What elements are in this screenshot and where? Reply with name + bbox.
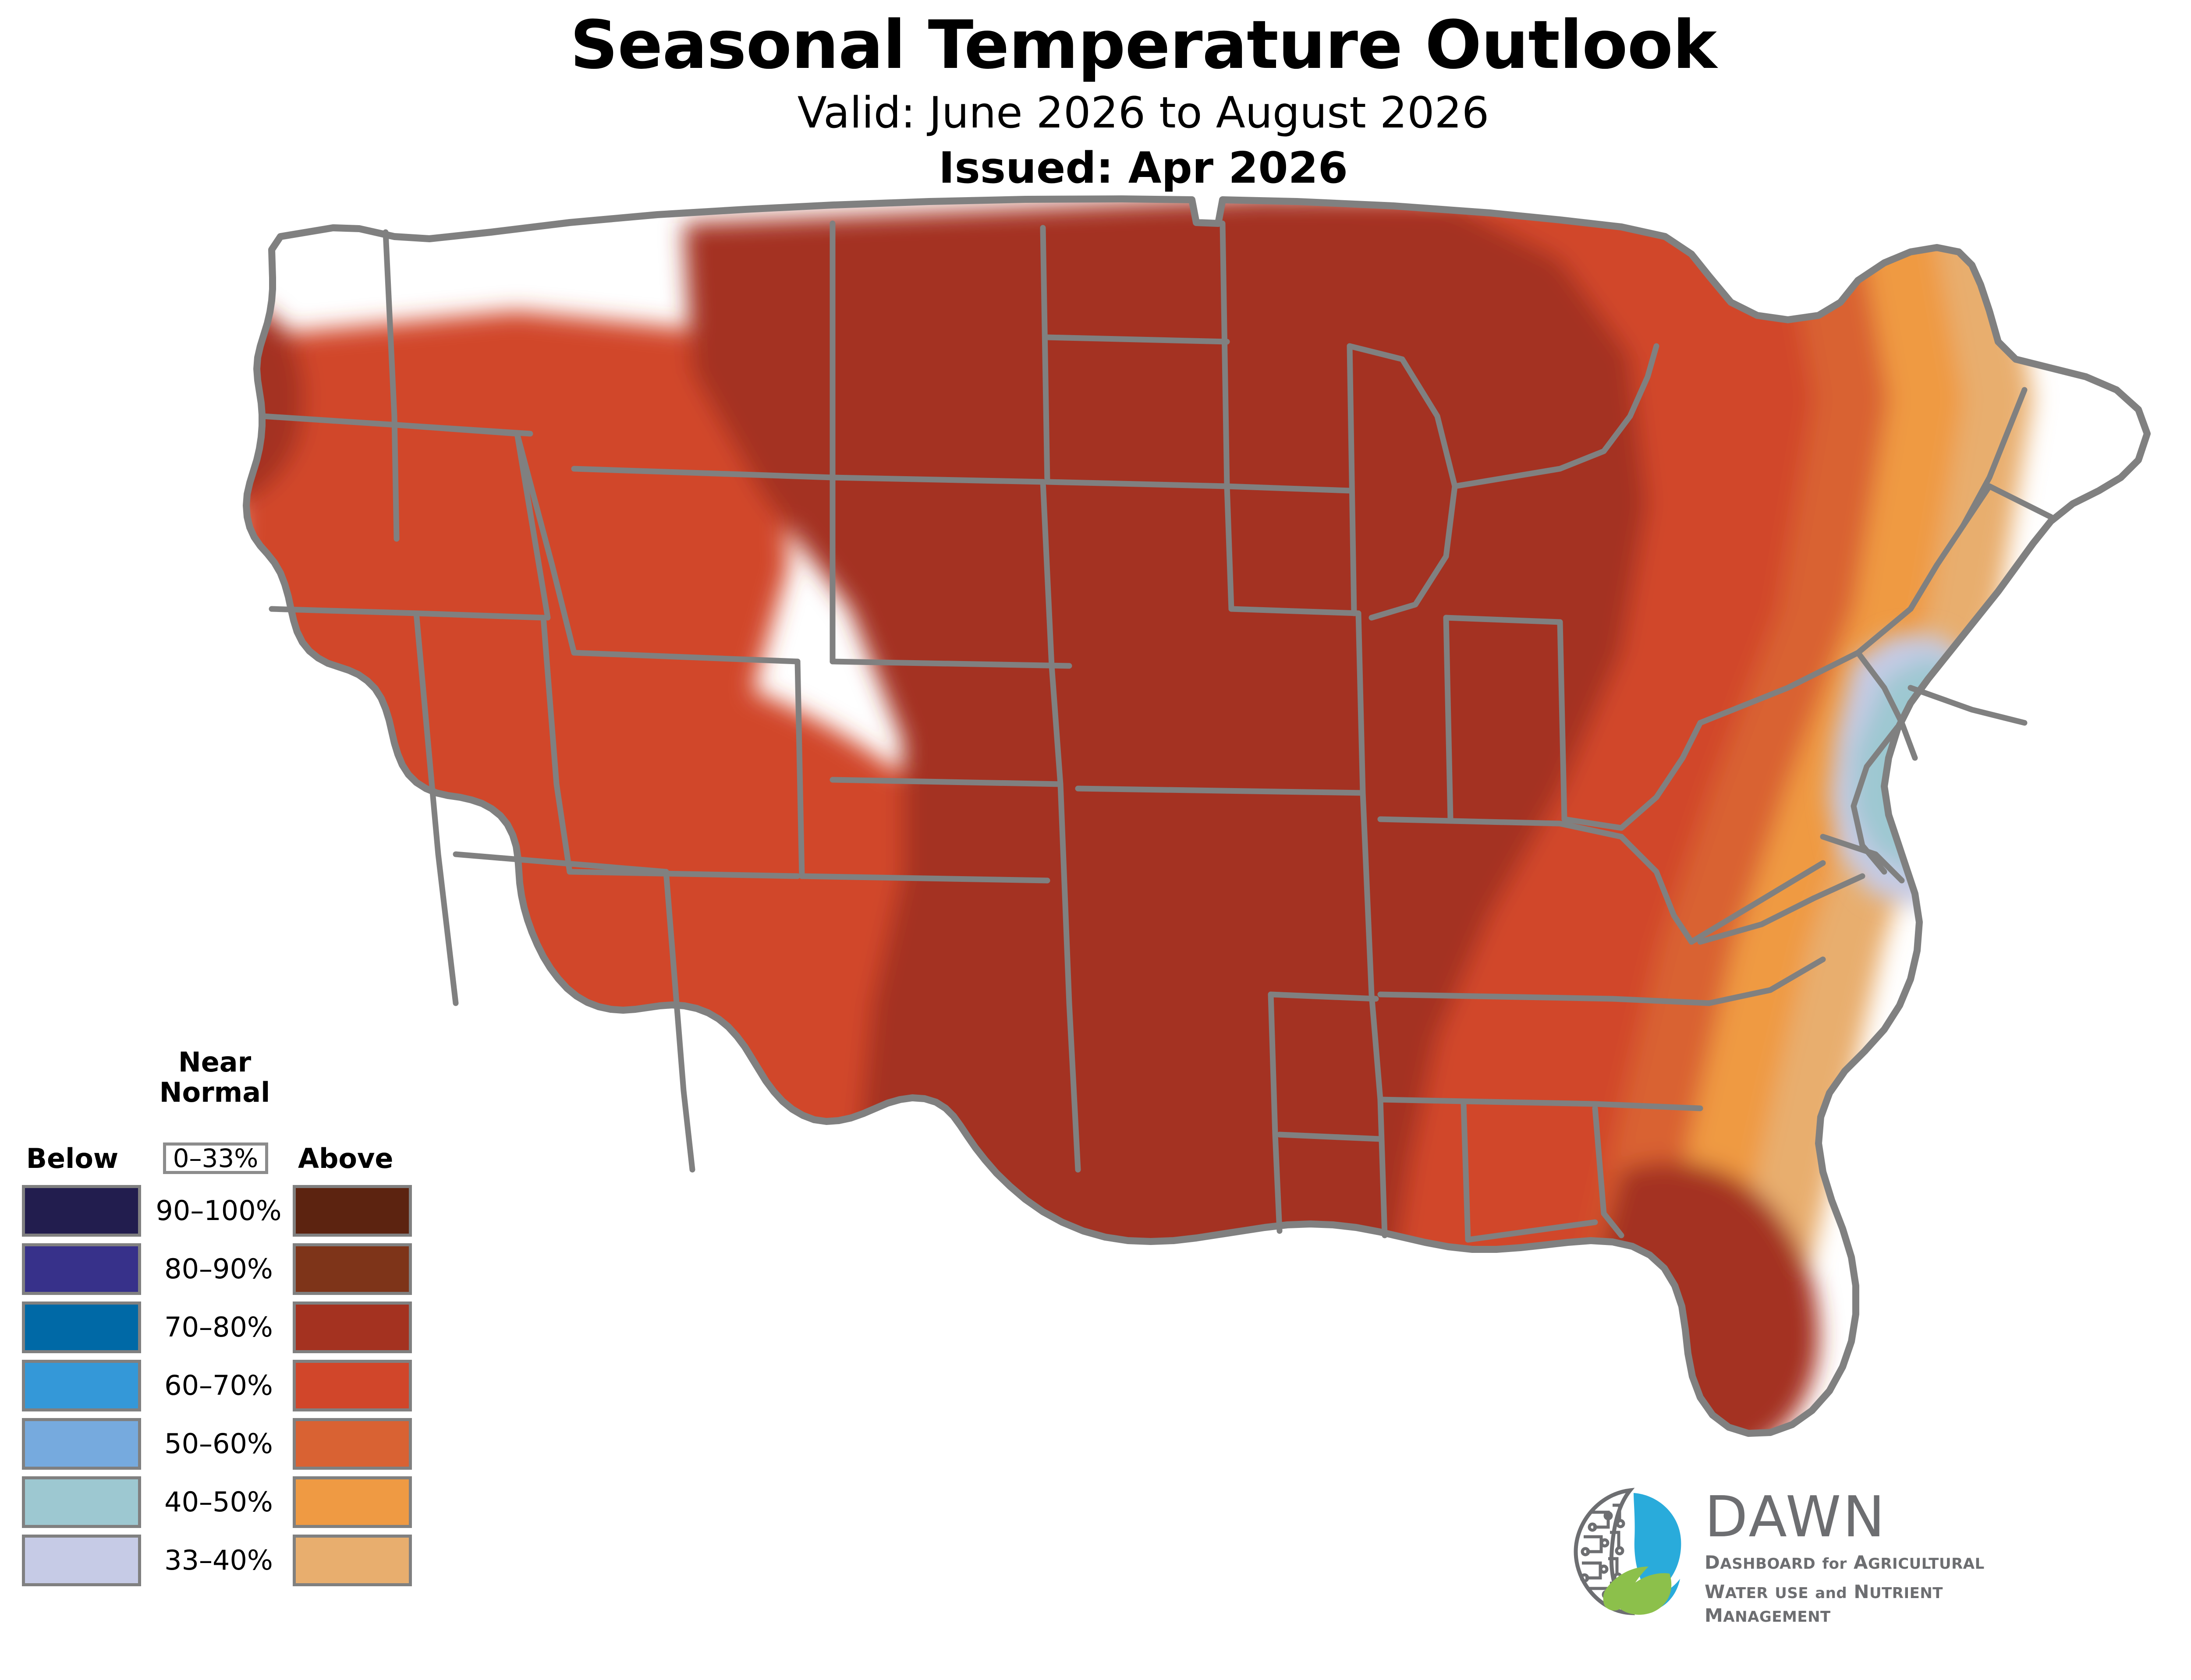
dawn-logo: DAWN DASHBOARD for AGRICULTURAL WATER US… [1564, 1485, 2051, 1652]
legend-row: 70–80% [9, 1302, 429, 1360]
legend-probability-label: 70–80% [148, 1302, 289, 1353]
legend-row: 90–100% [9, 1185, 429, 1243]
legend-row: 50–60% [9, 1418, 429, 1476]
legend-row: 80–90% [9, 1243, 429, 1302]
tagline-l2-g: M [1705, 1605, 1723, 1626]
tagline-l2-a: W [1705, 1581, 1725, 1602]
tagline-l1-d: A [1854, 1552, 1868, 1573]
page-title: Seasonal Temperature Outlook [0, 0, 2191, 80]
legend-swatch-above [293, 1535, 412, 1586]
legend-probability-label: 40–50% [148, 1476, 289, 1528]
legend-swatch-below [22, 1418, 141, 1470]
tagline-l2-b: ATER [1725, 1585, 1768, 1602]
title-block: Seasonal Temperature Outlook Valid: June… [0, 0, 2191, 192]
legend-near-normal-range: 0–33% [166, 1146, 265, 1171]
legend-probability-label: 50–60% [148, 1418, 289, 1470]
legend-below-heading: Below [18, 1143, 127, 1174]
legend-near-normal-swatch: 0–33% [163, 1142, 268, 1174]
dawn-tagline-line2: WATER USE and NUTRIENT MANAGEMENT [1705, 1580, 2051, 1628]
dawn-logo-text: DAWN DASHBOARD for AGRICULTURAL WATER US… [1705, 1489, 2051, 1628]
tagline-l1-c: for [1822, 1555, 1847, 1573]
legend-near-normal-heading: Near Normal [149, 1047, 280, 1108]
legend-row: 33–40% [9, 1535, 429, 1593]
shade-above-80-90-texas-coast [1072, 1250, 1190, 1333]
legend-above-heading: Above [298, 1143, 425, 1174]
legend-swatch-below [22, 1302, 141, 1353]
legend-swatch-below [22, 1535, 141, 1586]
legend-swatch-below [22, 1185, 141, 1237]
legend-probability-label: 60–70% [148, 1360, 289, 1411]
tagline-l2-d: and [1815, 1585, 1847, 1602]
tagline-l2-h: ANAGEMENT [1723, 1608, 1830, 1626]
legend-probability-label: 80–90% [148, 1243, 289, 1295]
legend-row: 60–70% [9, 1360, 429, 1418]
tagline-l2-f: UTRIENT [1869, 1585, 1943, 1602]
tagline-l1-b: ASHBOARD [1720, 1555, 1815, 1573]
legend-swatch-below [22, 1360, 141, 1411]
valid-period-label: Valid: June 2026 to August 2026 [0, 80, 2191, 137]
legend-swatch-below [22, 1476, 141, 1528]
legend: Near Normal Below Above 0–33% 90–100%80–… [9, 1043, 429, 1665]
legend-probability-label: 33–40% [148, 1535, 289, 1586]
legend-swatch-above [293, 1360, 412, 1411]
legend-row: 40–50% [9, 1476, 429, 1535]
legend-probability-label: 90–100% [148, 1185, 289, 1237]
legend-rows: 90–100%80–90%70–80%60–70%50–60%40–50%33–… [9, 1185, 429, 1593]
legend-swatch-above [293, 1185, 412, 1237]
legend-swatch-above [293, 1418, 412, 1470]
tagline-l2-c: USE [1775, 1585, 1808, 1602]
legend-swatch-above [293, 1243, 412, 1295]
legend-near-normal-line1: Near [178, 1046, 251, 1078]
legend-swatch-below [22, 1243, 141, 1295]
tagline-l1-a: D [1705, 1552, 1720, 1573]
tagline-l2-e: N [1854, 1581, 1869, 1602]
legend-swatch-above [293, 1476, 412, 1528]
dawn-tagline-line1: DASHBOARD for AGRICULTURAL [1705, 1551, 2051, 1575]
dawn-logo-mark-icon [1564, 1485, 1696, 1616]
legend-near-normal-line2: Normal [160, 1076, 270, 1108]
legend-swatch-above [293, 1302, 412, 1353]
border-ma-ct-ri [1911, 688, 2024, 723]
tagline-l1-e: GRICULTURAL [1868, 1555, 1985, 1573]
dawn-wordmark: DAWN [1705, 1489, 2051, 1546]
